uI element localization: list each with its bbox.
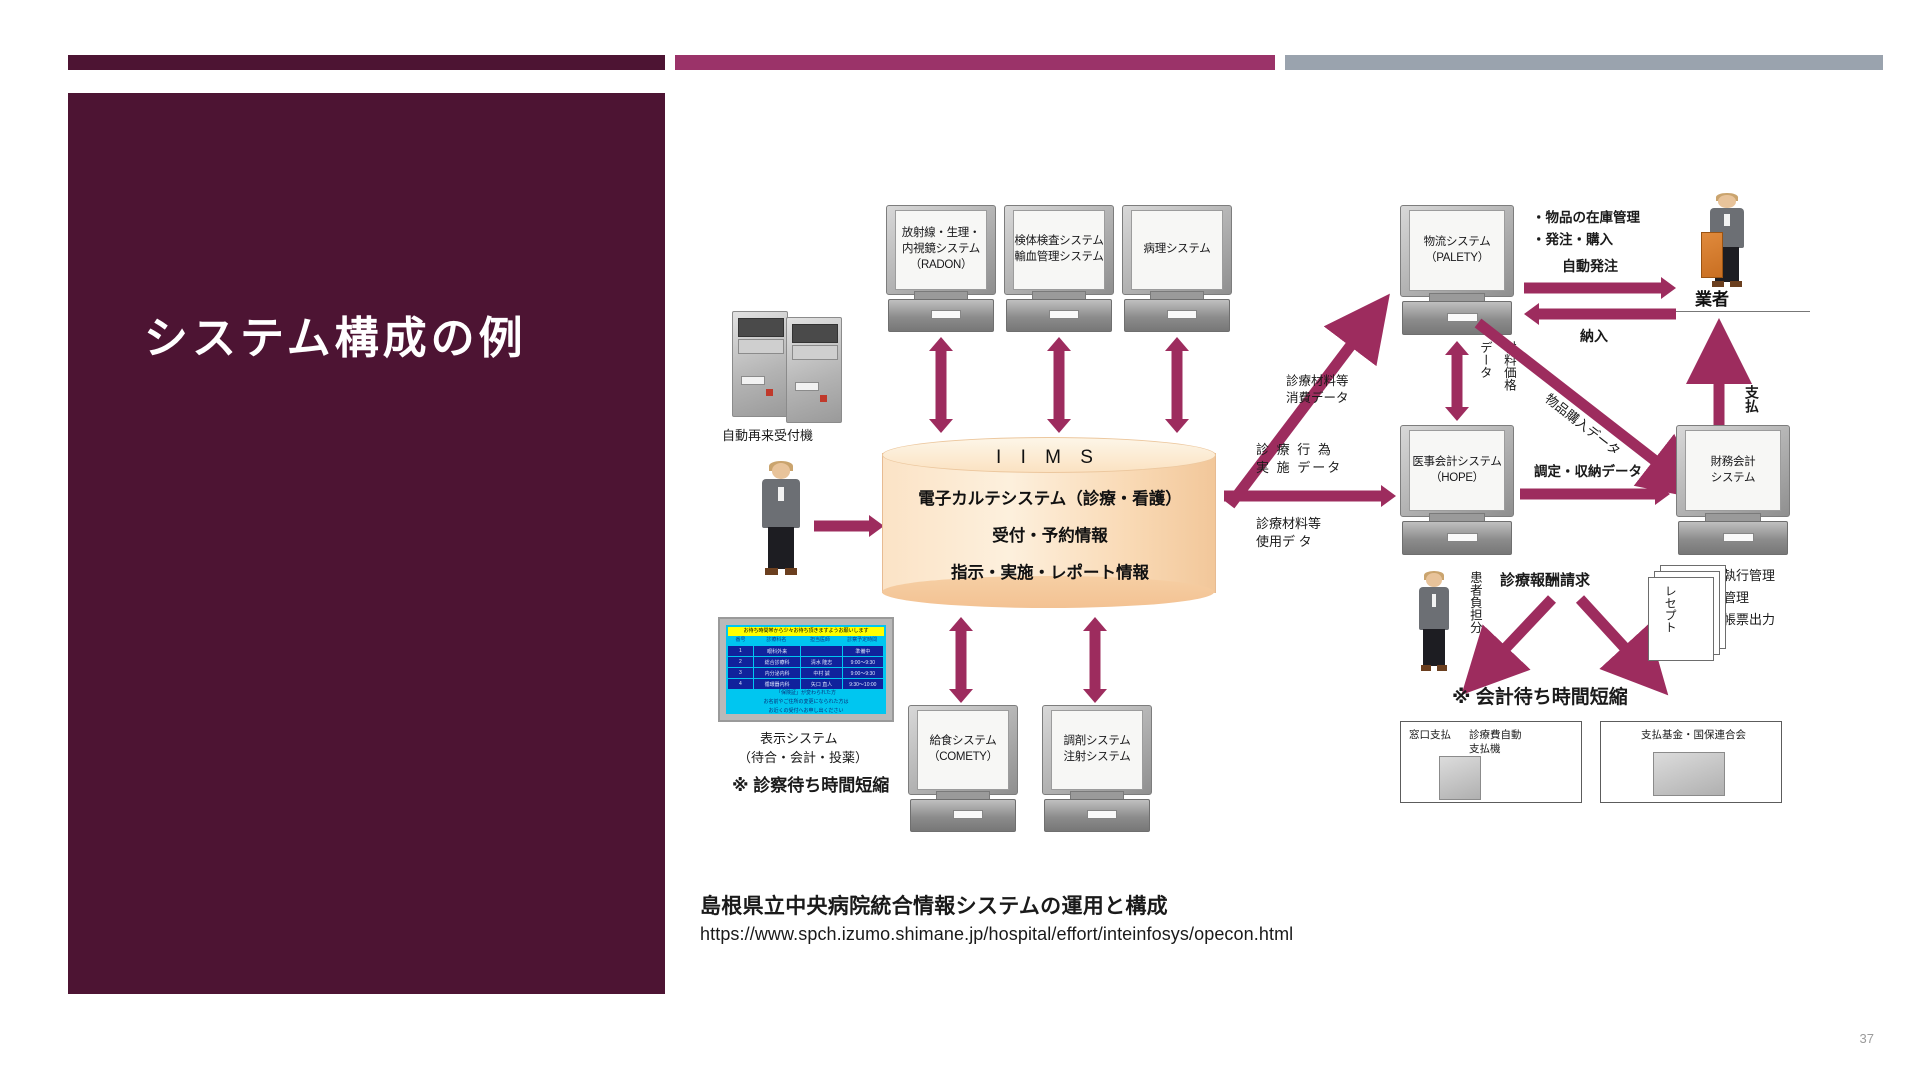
label-line: 診療材料等 [1286,373,1349,390]
arrow-head-down [1445,407,1469,421]
pc-label-line: 物流システム [1424,235,1491,251]
pc-medical-accounting-system: 医事会計システム （HOPE） [1400,425,1512,553]
kiosk-slot [795,382,820,390]
pc-drive-slot [953,810,983,819]
board-header-cell: 診察予定時間 [840,636,884,645]
arrow-shaft [1172,349,1183,421]
label-settlement: 調定・収納データ [1534,463,1642,481]
pc-pathology-system: 病理システム [1122,205,1230,330]
arrow-head-down [1083,689,1107,703]
board-row: 2 総合診療科 清水 隆志 9:00～9:30 [728,657,884,667]
arrow-head-down [929,419,953,433]
arrow-shaft [1520,489,1656,500]
arrow-iims-radiology [928,337,954,433]
board-row: 3 内分泌内科 中村 誠 9:00～9:30 [728,668,884,678]
arrow-head [1381,485,1396,507]
pc-drive-slot [1049,310,1079,319]
monitor-screen: 病理システム [1131,210,1224,290]
receipt-label: レセプト [1662,585,1678,633]
arrow-shaft [1090,629,1101,691]
source-caption: 島根県立中央病院統合情報システムの運用と構成 https://www.spch.… [700,890,1800,945]
pc-meal-system: 給食システム （COMETY） [908,705,1016,830]
arrow-logistics-to-medical-accounting [1444,341,1470,421]
payment-box-counter: 窓口支払 診療費自動 支払機 [1400,721,1582,803]
label-line: 診療材料等 [1256,515,1321,533]
iims-line-2: 受付・予約情報 [850,522,1250,546]
monitor-screen: 財務会計 システム [1685,430,1781,511]
monitor-screen: 物流システム （PALETY） [1409,210,1505,291]
board-cell: 矢口 直人 [801,679,841,689]
reception-kiosk-2 [786,317,842,423]
board-footer-line: お名前やご住所の変更になられた方は [728,698,884,707]
arrow-shaft [956,629,967,691]
pc-lab-test-system: 検体検査システム 輸血管理システム [1004,205,1112,330]
display-system-note: ※ 診察待ち時間短縮 [732,775,889,798]
board-header-row: 番号 診療科名 担当医師 診察予定時間 [728,636,884,645]
fund-title: 支払基金・国保連合会 [1641,728,1746,742]
board-cell: 9:00～9:30 [843,657,883,667]
payment-auto-label-2: 支払機 [1469,742,1501,756]
board-banner: お待ち時間帯から少々お待ち頂きますようお願いします [728,627,884,636]
person-head [1718,195,1735,208]
pc-dispensing-system: 調剤システム 注射システム [1042,705,1150,830]
board-footer-line: お近くの受付へお申し出ください [728,707,884,716]
arrow-shaft [936,349,947,421]
board-cell: 内分泌内科 [754,668,801,678]
person-shirt [1724,214,1730,226]
arrow-head-down [1165,419,1189,433]
caption-url[interactable]: https://www.spch.izumo.shimane.jp/hospit… [700,924,1800,945]
accent-bar-gray [1285,55,1883,70]
person-torso [762,479,799,528]
vendor-worker-figure [1700,195,1754,287]
person-head [1426,573,1441,587]
label-material-use: 診療材料等 使用デ タ [1256,515,1321,550]
arrow-iims-meal [948,617,974,703]
staff-figure [1410,573,1458,671]
arrow-shaft [1452,353,1463,409]
pc-label-line: （PALETY） [1425,251,1489,267]
pc-label-line: 給食システム [930,734,997,750]
board-screen: お待ち時間帯から少々お待ち頂きますようお願いします 番号 診療科名 担当医師 診… [726,625,886,714]
pc-label-line: 財務会計 [1711,455,1756,471]
label-line: 使用デ タ [1256,533,1321,551]
arrow-medical-to-finance [1520,483,1670,505]
kiosk-button [766,389,773,396]
display-system-label-2: （待合・会計・投薬） [738,749,868,767]
iims-name: I I M S [882,447,1214,469]
person-torso [1419,587,1450,630]
iims-line-1: 電子カルテシステム（診療・看護） [850,485,1250,509]
iims-line-3: 指示・実施・レポート情報 [850,559,1250,583]
board-cell: 眼科外来 [754,646,801,656]
arrow-head [1661,277,1676,299]
person-shoe-right [1730,281,1742,287]
board-footer-line: 「保険証」が変わられた方 [728,689,884,698]
monitor-screen: 医事会計システム （HOPE） [1409,430,1505,511]
arrow-iims-lab [1046,337,1072,433]
kiosk-panel [738,339,783,353]
board-header-cell: 担当医師 [800,636,841,645]
kiosk-slot [741,376,766,384]
monitor-screen: 給食システム （COMETY） [917,710,1010,790]
person-head [772,463,791,479]
vendor-note-2: ・発注・購入 [1532,231,1613,249]
pc-drive-slot [1447,533,1478,542]
board-row: 4 循環器内科 矢口 直人 9:30～10:00 [728,679,884,689]
board-cell: 9:00～9:30 [843,668,883,678]
payment-machine-icon [1439,756,1481,800]
label-supply-consumption: 診療材料等 消費データ [1286,373,1349,407]
person-shoe-right [1437,665,1448,671]
arrow-shaft [1054,349,1065,421]
person-shoe-right [785,568,798,575]
arrow-head-down [1047,419,1071,433]
label-auto-order: 自動発注 [1562,257,1618,276]
slide-title: システム構成の例 [144,311,614,366]
board-cell: 3 [728,668,753,678]
kiosk-screen [738,318,783,337]
pc-radiology-system: 放射線・生理・ 内視鏡システム （RADON） [886,205,994,330]
label-medical-act: 診 療 行 為 実 施 データ [1256,441,1342,476]
pc-label-line: 輸血管理システム [1014,250,1103,266]
kiosk-button [820,395,827,402]
label-claim: 診療報酬請求 [1500,571,1590,591]
person-legs [1423,629,1444,666]
pc-label-line: 病理システム [1144,242,1211,258]
board-row: 1 眼科外来 準備中 [728,646,884,656]
arrow-iims-pathology [1164,337,1190,433]
kiosk-label: 自動再来受付機 [722,427,813,445]
payment-auto-label-1: 診療費自動 [1469,728,1522,742]
arrow-shaft [1524,283,1662,294]
pc-label-line: システム [1711,471,1755,487]
arrow-iims-to-medical-accounting [1224,485,1396,507]
monitor-screen: 検体検査システム 輸血管理システム [1013,210,1106,290]
accent-bar-mid [675,55,1275,70]
display-system-label-1: 表示システム [760,730,838,748]
caption-title: 島根県立中央病院統合情報システムの運用と構成 [700,890,1800,920]
pc-label-line: 注射システム [1064,750,1131,766]
board-cell [801,646,841,656]
pc-label-line: 放射線・生理・ [902,226,980,242]
pc-label-line: 調剤システム [1064,734,1131,750]
board-cell: 準備中 [843,646,883,656]
pc-drive-slot [931,310,961,319]
page-number: 37 [1860,1031,1874,1046]
reception-kiosk-1 [732,311,788,417]
vendor-label: 業者 [1695,285,1729,310]
pc-label-line: （COMETY） [928,750,998,766]
payment-box-fund: 支払基金・国保連合会 [1600,721,1782,803]
person-shirt [778,487,784,502]
arrow-iims-pharmacy [1082,617,1108,703]
arrow-head-down [949,689,973,703]
hand-cart [1701,232,1722,278]
waiting-display-board: お待ち時間帯から少々お待ち頂きますようお願いします 番号 診療科名 担当医師 診… [718,617,894,722]
accounting-note: ※ 会計待ち時間短縮 [1452,685,1628,711]
pc-label-line: 検体検査システム [1014,234,1103,250]
patient-figure [752,463,810,575]
pc-label-line: 内視鏡システム [902,242,980,258]
pc-label-line: （HOPE） [1430,471,1484,487]
person-shoe-left [1421,665,1432,671]
board-header-cell: 番号 [728,636,753,645]
pc-drive-slot [1087,810,1117,819]
monitor-screen: 調剤システム 注射システム [1051,710,1144,790]
person-legs [768,527,794,570]
person-shoe-left [765,568,778,575]
board-header-cell: 診療科名 [753,636,800,645]
person-shirt [1432,594,1437,607]
pc-drive-slot [1723,533,1754,542]
fund-building-icon [1653,752,1725,796]
system-architecture-diagram: 自動再来受付機 お待ち時間帯から少々お待ち頂きますようお願いします 番号 診療科… [700,185,1890,865]
accent-bar-dark [68,55,665,70]
arrow-head [1655,483,1670,505]
kiosk-panel [792,345,837,359]
title-panel: システム構成の例 [68,93,665,994]
label-line: 診 療 行 為 [1256,441,1342,459]
vendor-note-1: ・物品の在庫管理 [1532,209,1640,227]
pc-drive-slot [1167,310,1197,319]
content-area: 自動再来受付機 お待ち時間帯から少々お待ち頂きますようお願いします 番号 診療科… [700,90,1890,1050]
board-cell: 2 [728,657,753,667]
payment-counter-label: 窓口支払 [1409,728,1451,742]
board-cell: 総合診療科 [754,657,801,667]
pc-label-line: （RADON） [910,258,972,274]
board-cell: 循環器内科 [754,679,801,689]
pc-logistics-system: 物流システム （PALETY） [1400,205,1512,333]
board-cell: 9:30～10:00 [843,679,883,689]
receipt-paper-front [1648,577,1714,661]
label-payment: 支払 [1742,385,1761,413]
vendor-underline [1660,311,1810,312]
label-line: 消費データ [1286,390,1349,407]
pc-finance-accounting-system: 財務会計 システム [1676,425,1788,553]
board-cell: 1 [728,646,753,656]
arrow-auto-order [1524,277,1676,299]
monitor-screen: 放射線・生理・ 内視鏡システム （RADON） [895,210,988,290]
kiosk-screen [792,324,837,343]
arrow-shaft [1224,491,1382,502]
board-cell: 4 [728,679,753,689]
board-cell: 中村 誠 [801,668,841,678]
pc-label-line: 医事会計システム [1412,455,1501,471]
board-cell: 清水 隆志 [801,657,841,667]
label-line: 実 施 データ [1256,459,1342,477]
